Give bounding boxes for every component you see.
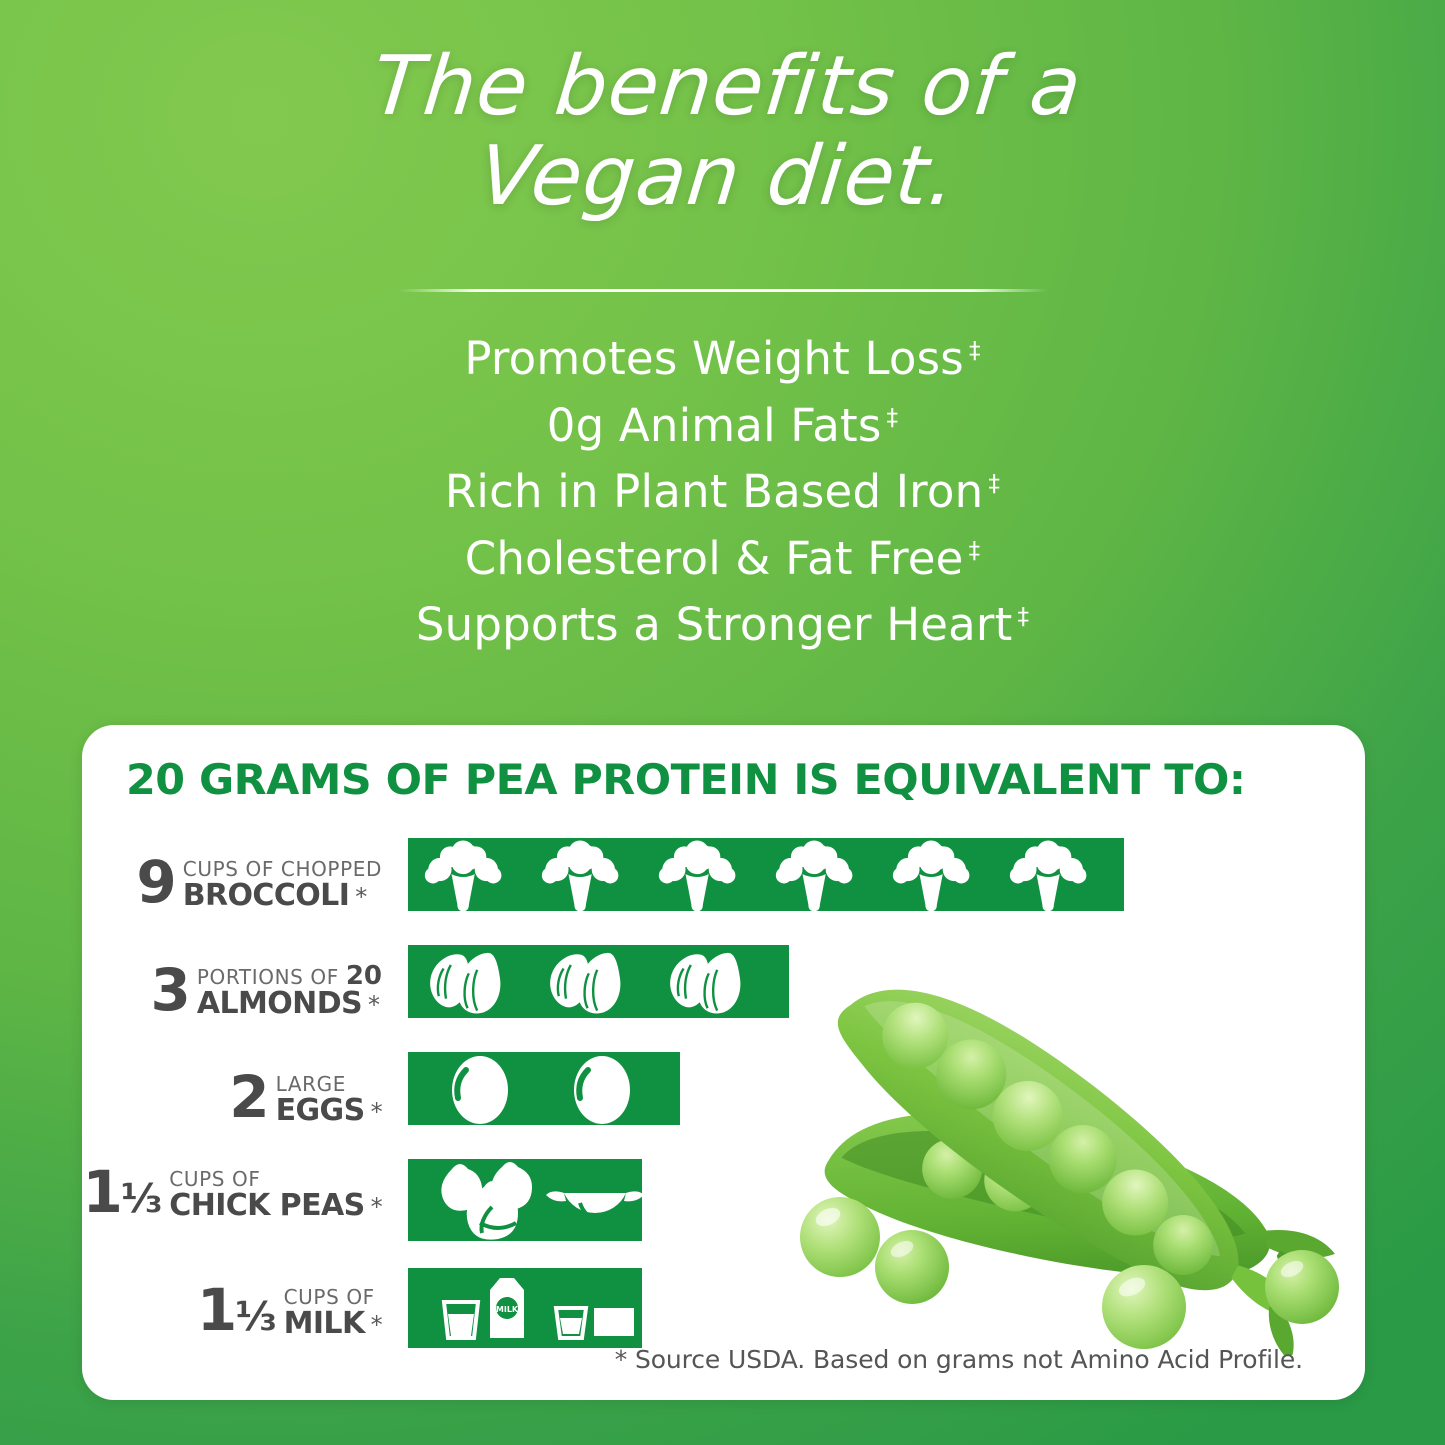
footnote-asterisk: * bbox=[371, 1311, 382, 1339]
chickpeas-icon bbox=[441, 1162, 642, 1240]
benefit-label: Supports a Stronger Heart bbox=[416, 598, 1013, 651]
benefit-label: Promotes Weight Loss bbox=[464, 332, 964, 385]
row-main-label: BROCCOLI* bbox=[183, 881, 367, 911]
row-quantity: 3 bbox=[151, 963, 189, 1018]
eggs-bar bbox=[408, 1052, 680, 1125]
footnote-asterisk: * bbox=[368, 991, 379, 1019]
equivalence-row-label: 9 CUPS OF CHOPPED BROCCOLI* bbox=[82, 855, 382, 911]
broccoli-icon bbox=[425, 841, 1087, 911]
footnote-asterisk: * bbox=[371, 1098, 382, 1126]
card-footnote: * Source USDA. Based on grams not Amino … bbox=[82, 1345, 1365, 1374]
row-quantity: 9 bbox=[136, 855, 174, 910]
broccoli-bar bbox=[408, 838, 1124, 911]
benefit-item: Promotes Weight Loss‡ bbox=[0, 326, 1445, 393]
equivalence-card-title: 20 GRAMS OF PEA PROTEIN IS EQUIVALENT TO… bbox=[126, 755, 1245, 804]
benefits-list: Promotes Weight Loss‡ 0g Animal Fats‡ Ri… bbox=[0, 326, 1445, 659]
row-main-label: MILK* bbox=[284, 1309, 382, 1339]
benefit-item: Supports a Stronger Heart‡ bbox=[0, 592, 1445, 659]
equivalence-row-label: 1⅓ CUPS OF MILK* bbox=[82, 1283, 382, 1339]
row-main-label: CHICK PEAS* bbox=[169, 1191, 382, 1221]
benefit-label: 0g Animal Fats bbox=[547, 399, 882, 452]
equivalence-card: 20 GRAMS OF PEA PROTEIN IS EQUIVALENT TO… bbox=[82, 725, 1365, 1400]
equivalence-row-label: 1⅓ CUPS OF CHICK PEAS* bbox=[82, 1165, 382, 1221]
title-divider bbox=[398, 289, 1048, 292]
chickpeas-bar bbox=[408, 1159, 642, 1241]
page-title-line-2: Vegan diet. bbox=[0, 134, 1445, 220]
egg-icon bbox=[452, 1056, 630, 1124]
row-main-label: EGGS* bbox=[276, 1096, 382, 1126]
equivalence-row-label: 2 LARGE EGGS* bbox=[82, 1070, 382, 1126]
row-main-label: ALMONDS* bbox=[197, 989, 380, 1019]
benefit-label: Cholesterol & Fat Free bbox=[465, 532, 964, 585]
benefit-label: Rich in Plant Based Iron bbox=[445, 465, 983, 518]
row-quantity: 1⅓ bbox=[197, 1283, 276, 1338]
almonds-bar bbox=[408, 945, 789, 1018]
page-title-line-1: The benefits of a bbox=[0, 44, 1445, 130]
vegan-benefits-infographic: The benefits of a Vegan diet. Promotes W… bbox=[0, 0, 1445, 1445]
benefit-footnote-marker: ‡ bbox=[969, 338, 981, 364]
page-title: The benefits of a Vegan diet. bbox=[0, 44, 1445, 220]
milk-bar: MILK bbox=[408, 1268, 642, 1348]
row-quantity: 2 bbox=[229, 1070, 267, 1125]
almonds-icon bbox=[430, 953, 740, 1014]
footnote-asterisk: * bbox=[355, 883, 366, 911]
benefit-item: Cholesterol & Fat Free‡ bbox=[0, 526, 1445, 593]
benefit-footnote-marker: ‡ bbox=[969, 538, 981, 564]
benefit-footnote-marker: ‡ bbox=[887, 405, 899, 431]
equivalence-row-label: 3 PORTIONS OF 20 ALMONDS* bbox=[82, 963, 382, 1019]
benefit-item: Rich in Plant Based Iron‡ bbox=[0, 459, 1445, 526]
benefit-item: 0g Animal Fats‡ bbox=[0, 393, 1445, 460]
benefit-footnote-marker: ‡ bbox=[988, 471, 1000, 497]
pea-pods-photo bbox=[782, 915, 1365, 1355]
benefit-footnote-marker: ‡ bbox=[1017, 604, 1029, 630]
footnote-asterisk: * bbox=[371, 1193, 382, 1221]
milk-icon: MILK bbox=[444, 1278, 634, 1338]
row-quantity: 1⅓ bbox=[83, 1165, 162, 1220]
svg-text:MILK: MILK bbox=[496, 1305, 519, 1314]
